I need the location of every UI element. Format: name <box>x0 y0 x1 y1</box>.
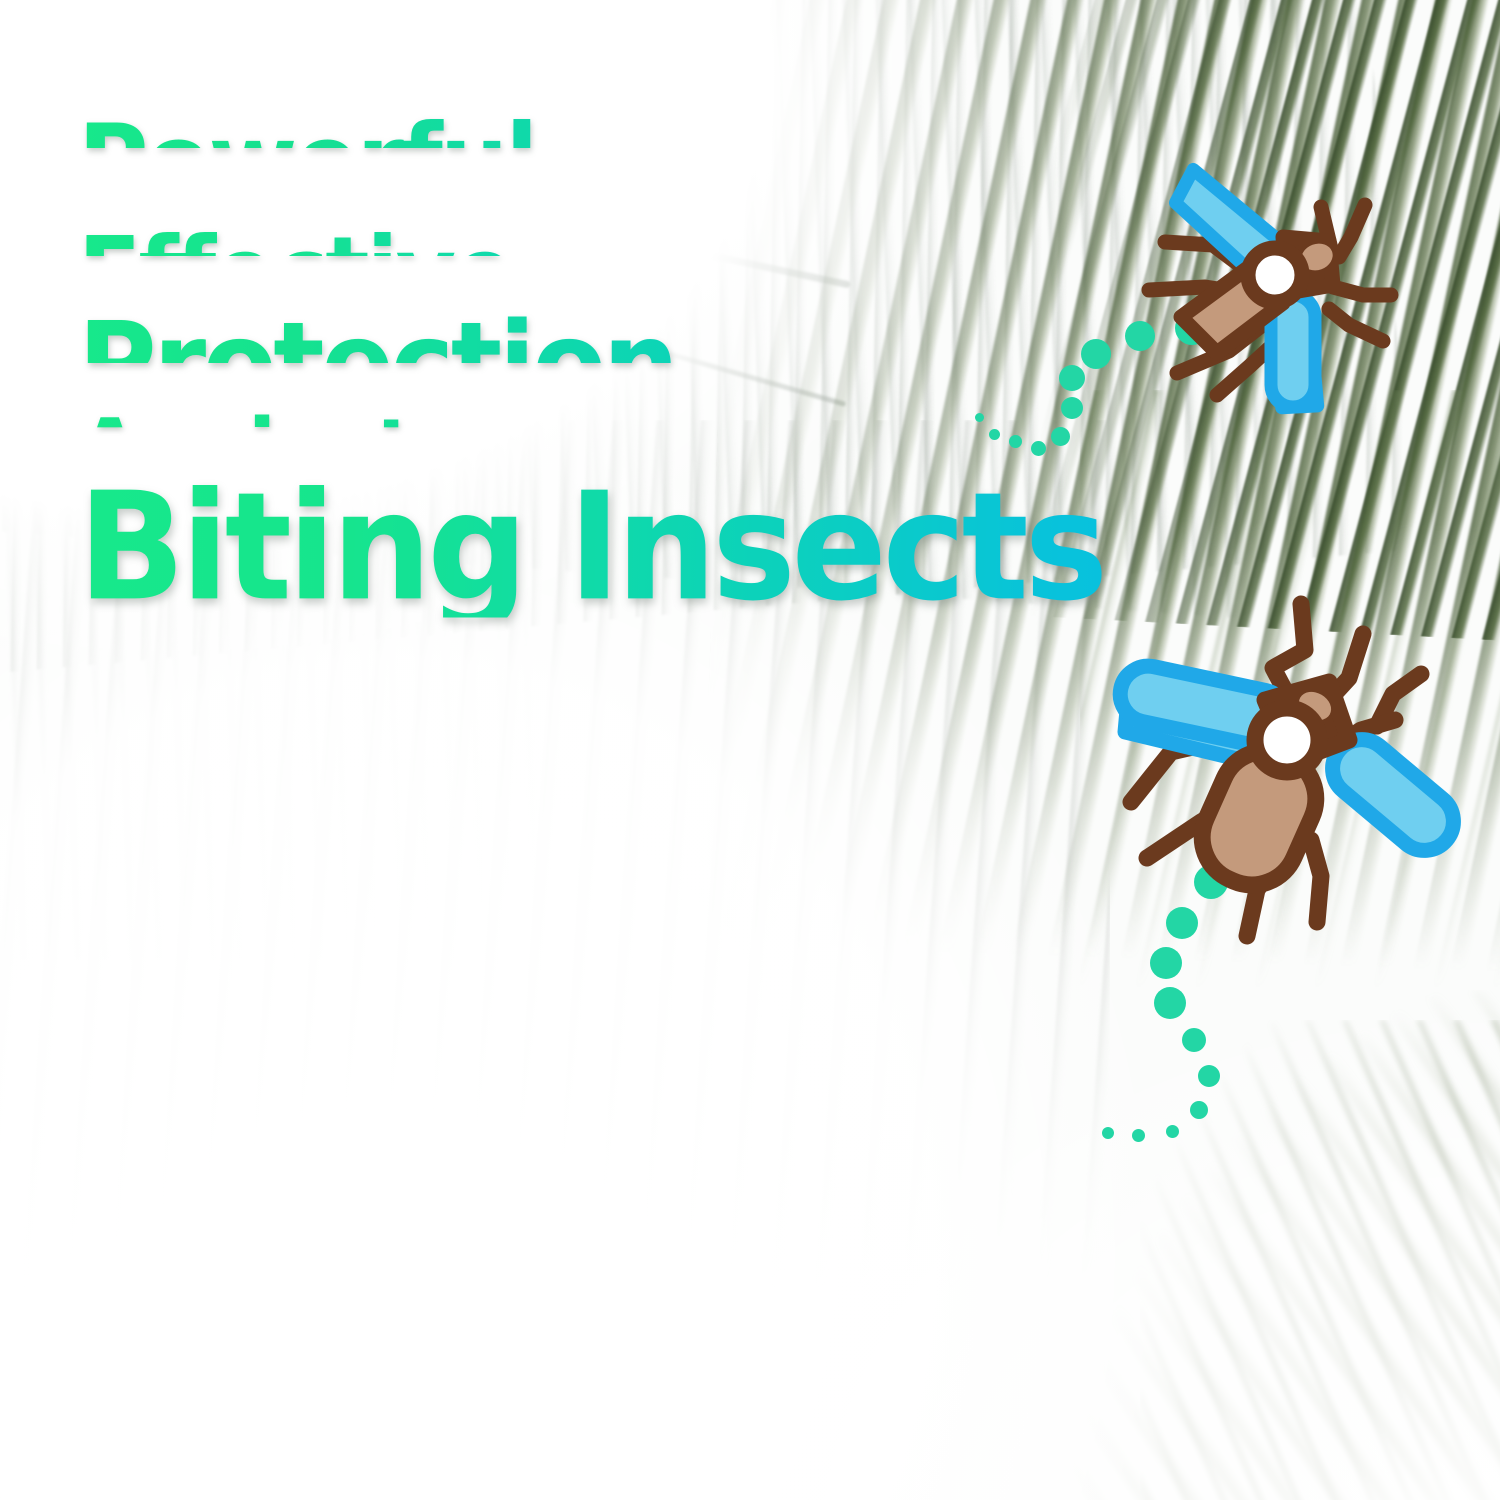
headline-line-2: Offer <box>78 173 548 183</box>
mosquito-icon-bottom <box>1105 590 1465 950</box>
headline-line-1: Powerful <box>78 94 898 148</box>
headline-line-4: Protection <box>78 288 993 363</box>
mosquito-icon-top <box>1125 145 1425 445</box>
headline-line-5: Against <box>78 393 778 427</box>
headline-line-6: Biting Insects <box>78 449 1278 618</box>
headline-line-3: Effective <box>78 208 868 256</box>
promo-banner: Powerful Offer Effective Protection Agai… <box>0 0 1500 1500</box>
